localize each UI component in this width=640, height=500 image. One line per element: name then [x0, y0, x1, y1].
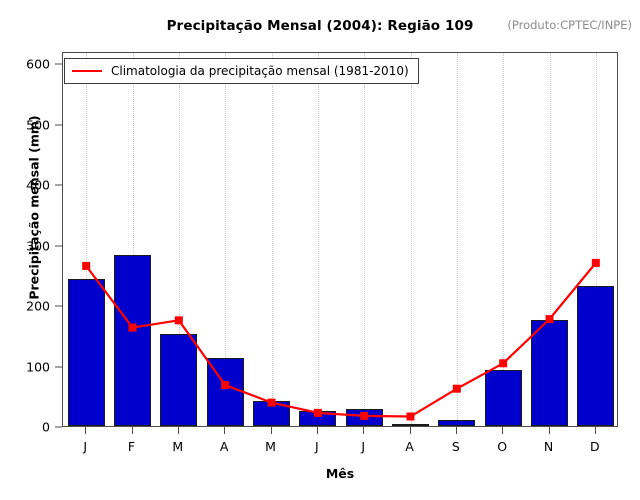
x-tick-mark	[456, 427, 457, 434]
chart-figure: Precipitação Mensal (2004): Região 109 (…	[0, 0, 640, 500]
x-tick-label: A	[220, 439, 229, 454]
y-tick-label: 100	[26, 359, 50, 374]
x-tick-label: N	[544, 439, 553, 454]
x-tick-label: A	[405, 439, 414, 454]
x-tick-label: J	[361, 439, 365, 454]
x-tick-mark	[410, 427, 411, 434]
source-annotation: (Produto:CPTEC/INPE)	[507, 18, 632, 32]
x-tick-mark	[271, 427, 272, 434]
data-point-marker	[129, 324, 137, 332]
x-tick-mark	[363, 427, 364, 434]
legend: Climatologia da precipitação mensal (198…	[64, 58, 419, 84]
y-tick-mark	[55, 64, 62, 65]
data-point-marker	[175, 316, 183, 324]
legend-entry-label: Climatologia da precipitação mensal (198…	[111, 64, 409, 78]
data-point-marker	[499, 359, 507, 367]
data-point-marker	[314, 409, 322, 417]
x-tick-mark	[132, 427, 133, 434]
y-tick-mark	[55, 185, 62, 186]
y-tick-mark	[55, 306, 62, 307]
data-point-marker	[221, 381, 229, 389]
y-tick-label: 600	[26, 57, 50, 72]
data-point-marker	[546, 315, 554, 323]
x-tick-label: O	[497, 439, 507, 454]
data-point-marker	[360, 412, 368, 420]
x-tick-mark	[224, 427, 225, 434]
y-tick-mark	[55, 124, 62, 125]
y-tick-label: 0	[42, 420, 50, 435]
data-point-marker	[268, 399, 276, 407]
x-tick-label: J	[83, 439, 87, 454]
x-tick-mark	[502, 427, 503, 434]
x-tick-label: J	[315, 439, 319, 454]
x-tick-label: M	[265, 439, 276, 454]
climatology-polyline	[86, 263, 596, 417]
x-tick-mark	[317, 427, 318, 434]
x-tick-label: D	[590, 439, 600, 454]
x-tick-mark	[178, 427, 179, 434]
data-point-marker	[82, 262, 90, 270]
y-tick-mark	[55, 245, 62, 246]
x-tick-mark	[549, 427, 550, 434]
y-tick-mark	[55, 427, 62, 428]
climatology-line-series	[63, 53, 618, 427]
data-point-marker	[407, 413, 415, 421]
x-tick-label: F	[128, 439, 135, 454]
climatology-markers	[82, 259, 600, 421]
x-axis-title: Mês	[62, 466, 618, 481]
data-point-marker	[453, 385, 461, 393]
data-point-marker	[592, 259, 600, 267]
x-tick-label: S	[452, 439, 460, 454]
x-axis: JFMAMJJASOND	[62, 427, 618, 467]
x-tick-mark	[85, 427, 86, 434]
legend-line-swatch	[72, 70, 102, 72]
x-tick-mark	[595, 427, 596, 434]
y-tick-mark	[55, 366, 62, 367]
plot-area	[62, 52, 618, 427]
x-tick-label: M	[172, 439, 183, 454]
y-axis-title: Precipitação mensal (mm)	[27, 78, 42, 338]
